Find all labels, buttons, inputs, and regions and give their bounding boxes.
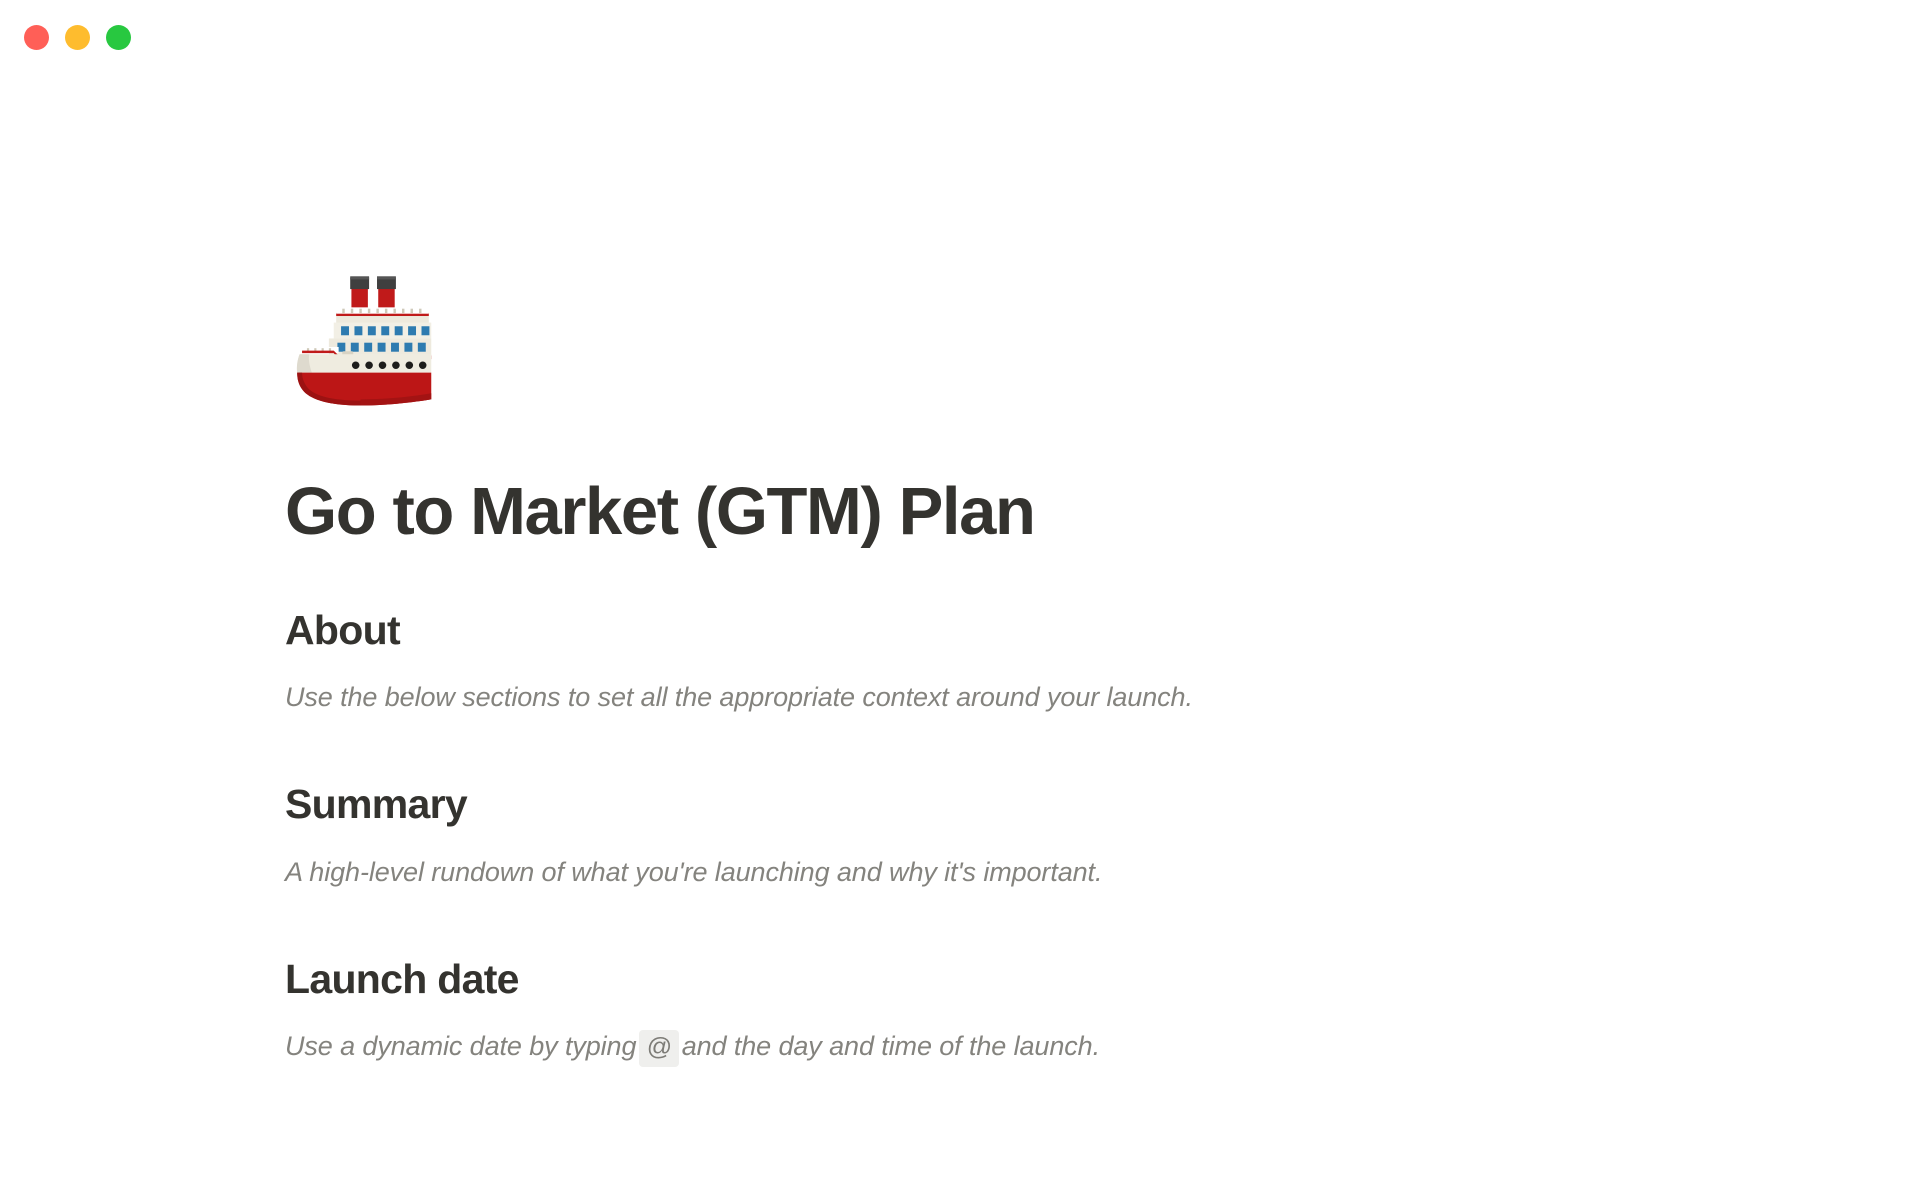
traffic-light-group xyxy=(24,25,131,50)
app-window: Go to Market (GTM) Plan About Use the be… xyxy=(0,0,1920,1200)
section-heading-summary[interactable]: Summary xyxy=(285,779,1920,830)
section-caption-summary[interactable]: A high-level rundown of what you're laun… xyxy=(285,853,1920,892)
section-caption-about[interactable]: Use the below sections to set all the ap… xyxy=(285,678,1920,717)
caption-text-after: and the day and time of the launch. xyxy=(682,1031,1100,1061)
document-scroll-area[interactable]: Go to Market (GTM) Plan About Use the be… xyxy=(0,76,1920,1200)
passenger-ship-icon[interactable] xyxy=(285,258,441,414)
window-titlebar xyxy=(0,0,1920,76)
section-launch-date: Launch date Use a dynamic date by typing… xyxy=(285,954,1920,1067)
page-title[interactable]: Go to Market (GTM) Plan xyxy=(285,474,1920,549)
section-about: About Use the below sections to set all … xyxy=(285,605,1920,717)
minimize-window-button[interactable] xyxy=(65,25,90,50)
close-window-button[interactable] xyxy=(24,25,49,50)
caption-text-before: Use a dynamic date by typing xyxy=(285,1031,636,1061)
section-caption-launch-date[interactable]: Use a dynamic date by typing@and the day… xyxy=(285,1027,1920,1067)
section-summary: Summary A high-level rundown of what you… xyxy=(285,779,1920,891)
section-heading-launch-date[interactable]: Launch date xyxy=(285,954,1920,1005)
mention-trigger-code-chip[interactable]: @ xyxy=(639,1030,678,1067)
maximize-window-button[interactable] xyxy=(106,25,131,50)
document-content: Go to Market (GTM) Plan About Use the be… xyxy=(0,76,1920,1067)
section-heading-about[interactable]: About xyxy=(285,605,1920,656)
